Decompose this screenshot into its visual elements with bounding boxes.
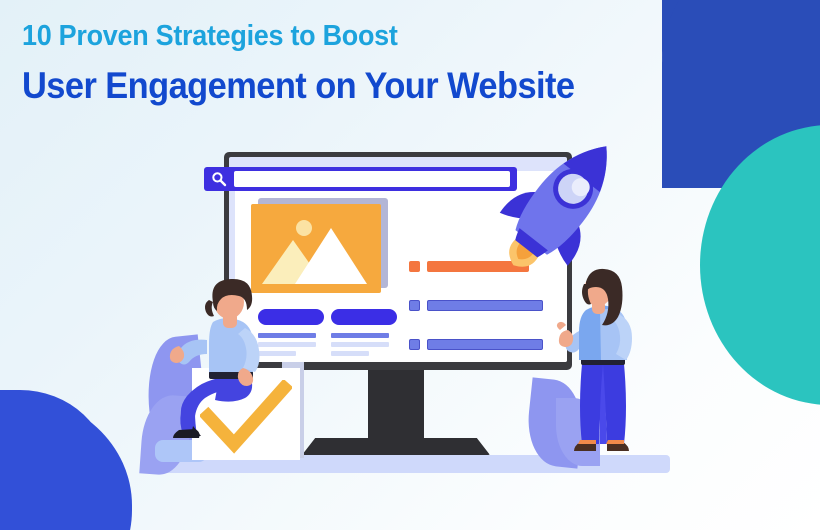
content-pill-right[interactable] xyxy=(331,309,397,325)
poster-canvas: 10 Proven Strategies to Boost User Engag… xyxy=(0,0,820,530)
text-line xyxy=(331,333,389,338)
text-line xyxy=(331,351,369,356)
seated-woman-avatar xyxy=(163,278,271,438)
monitor-neck xyxy=(368,370,424,445)
standing-woman-avatar xyxy=(556,268,648,468)
text-line xyxy=(331,342,389,347)
list-item-bullet xyxy=(409,339,420,350)
list-item-bullet xyxy=(409,261,420,272)
search-input[interactable] xyxy=(204,167,517,191)
rocket-icon xyxy=(497,113,627,293)
monitor-base xyxy=(302,438,490,455)
list-item xyxy=(427,339,543,350)
sun-icon xyxy=(296,220,312,236)
headline-line-1: 10 Proven Strategies to Boost xyxy=(22,22,575,51)
headline-line-2: User Engagement on Your Website xyxy=(22,67,575,104)
mountain-front-icon xyxy=(295,228,367,284)
search-field-box[interactable] xyxy=(234,171,510,187)
page-title: 10 Proven Strategies to Boost User Engag… xyxy=(22,22,616,104)
list-item-bullet xyxy=(409,300,420,311)
list-item xyxy=(427,300,543,311)
search-icon xyxy=(211,171,227,187)
